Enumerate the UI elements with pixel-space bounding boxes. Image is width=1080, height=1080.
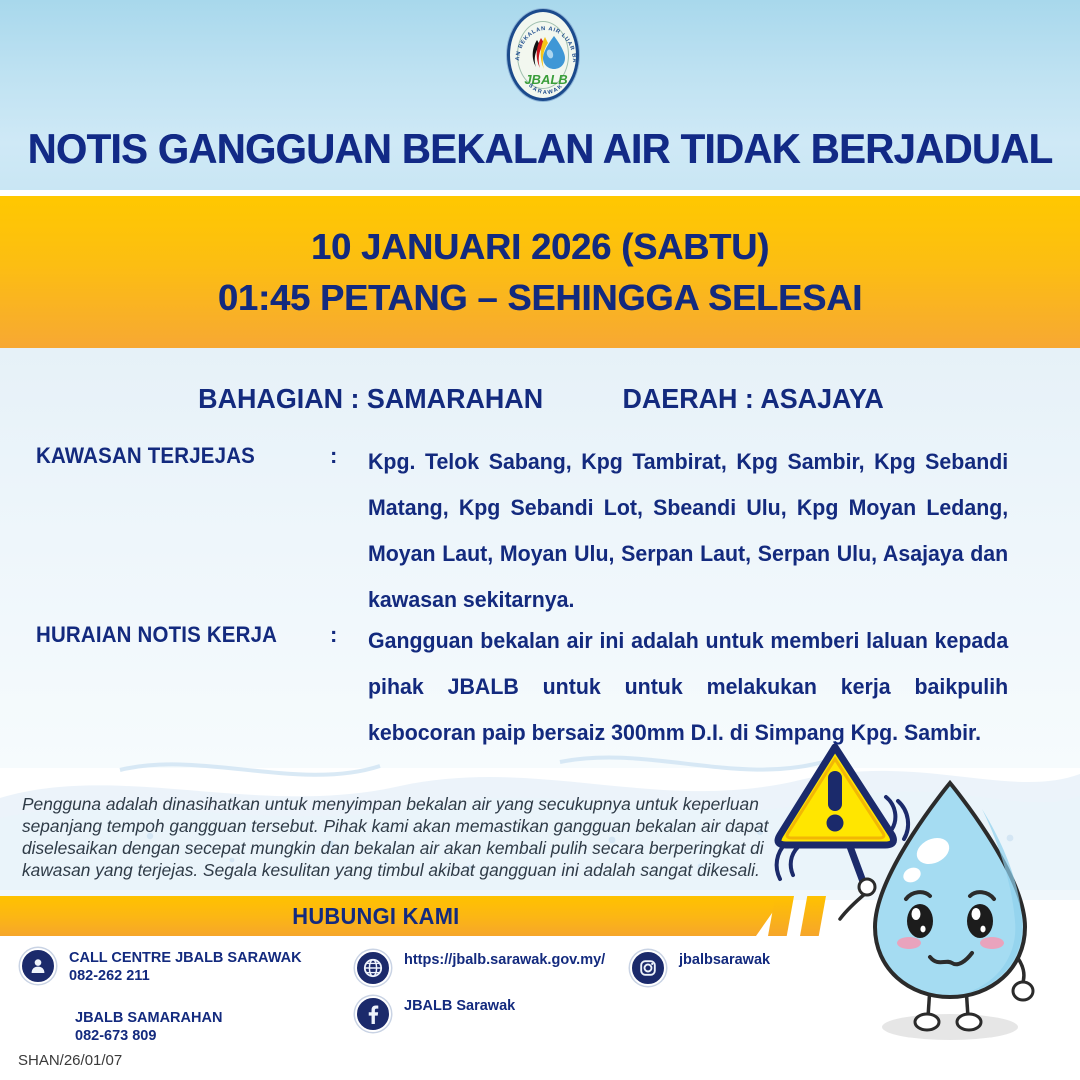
jbalb-seal-icon: JABATAN BEKALAN AIR LUAR BANDAR SARAWAK … [507, 9, 579, 101]
contact-facebook[interactable]: JBALB Sarawak [355, 996, 515, 1032]
water-droplet-mascot [770, 735, 1080, 1080]
seal-artwork: JABATAN BEKALAN AIR LUAR BANDAR SARAWAK … [510, 12, 579, 101]
date-band: 10 JANUARI 2026 (SABTU) 01:45 PETANG – S… [0, 196, 1080, 348]
affected-areas-value: Kpg. Telok Sabang, Kpg Tambirat, Kpg Sam… [368, 439, 1008, 623]
contact-website[interactable]: https://jbalb.sarawak.gov.my/ [355, 950, 605, 986]
contact-banner: HUBUNGI KAMI [0, 896, 784, 936]
samarahan-phone: 082-673 809 [75, 1027, 222, 1045]
page-title: NOTIS GANGGUAN BEKALAN AIR TIDAK BERJADU… [27, 125, 1053, 173]
website-url[interactable]: https://jbalb.sarawak.gov.my/ [404, 950, 605, 969]
svg-text:JBALB: JBALB [524, 72, 567, 87]
contact-instagram[interactable]: jbalbsarawak [630, 950, 770, 986]
globe-icon [355, 950, 391, 986]
contact-jbalb-samarahan[interactable]: JBALB SAMARAHAN 082-673 809 [75, 1008, 222, 1045]
person-icon [20, 948, 56, 984]
instagram-icon [630, 950, 666, 986]
region-row: BAHAGIAN : SAMARAHAN DAERAH : ASAJAYA [0, 383, 1080, 415]
call-centre-name: CALL CENTRE JBALB SARAWAK [69, 950, 302, 966]
jbalb-logo: JABATAN BEKALAN AIR LUAR BANDAR SARAWAK … [503, 6, 583, 104]
affected-areas-colon: : [330, 443, 337, 469]
affected-areas-label: KAWASAN TERJEJAS [36, 443, 255, 469]
notice-poster: JABATAN BEKALAN AIR LUAR BANDAR SARAWAK … [0, 0, 1080, 1080]
call-centre-phone: 082-262 211 [69, 967, 302, 985]
work-description-label: HURAIAN NOTIS KERJA [36, 622, 277, 648]
work-description-colon: : [330, 622, 337, 648]
advisory-text: Pengguna adalah dinasihatkan untuk menyi… [22, 793, 774, 881]
facebook-icon [355, 996, 391, 1032]
reference-code: SHAN/26/01/07 [18, 1052, 122, 1069]
samarahan-name: JBALB SAMARAHAN [75, 1010, 222, 1026]
contact-banner-label: HUBUNGI KAMI [292, 903, 492, 930]
date-line-2: 01:45 PETANG – SEHINGGA SELESAI [218, 272, 862, 323]
district-label: DAERAH : ASAJAYA [622, 383, 883, 415]
instagram-handle[interactable]: jbalbsarawak [679, 950, 770, 969]
contact-call-centre[interactable]: CALL CENTRE JBALB SARAWAK 082-262 211 [20, 948, 302, 985]
facebook-handle[interactable]: JBALB Sarawak [404, 996, 515, 1015]
division-label: BAHAGIAN : SAMARAHAN [198, 383, 543, 415]
date-line-1: 10 JANUARI 2026 (SABTU) [311, 221, 769, 272]
